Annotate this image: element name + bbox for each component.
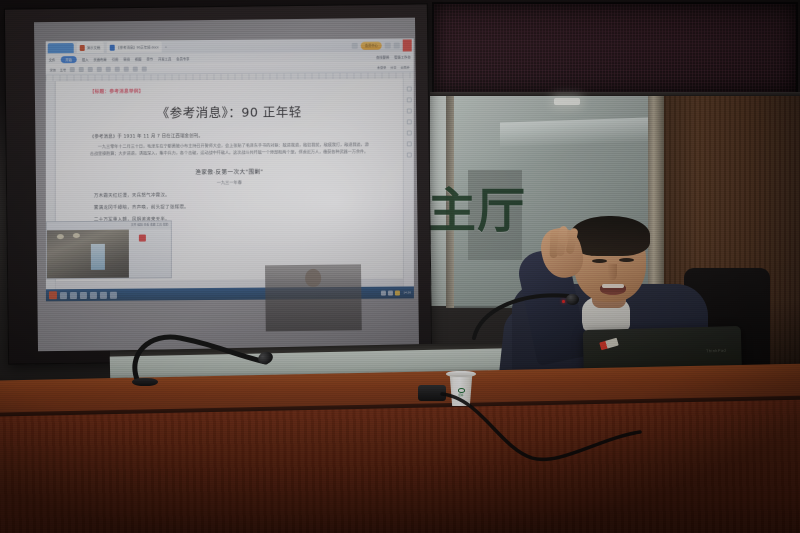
speaker-eye-left bbox=[592, 259, 607, 263]
menu-item-7[interactable]: 章节 bbox=[146, 56, 153, 61]
find-replace-button[interactable]: 查找替换 bbox=[376, 54, 389, 59]
ceiling-light bbox=[554, 98, 580, 105]
system-tray bbox=[381, 290, 400, 295]
poem-line-2: 雾满龙冈千嶂暗，齐声唤，前头捉了张辉瓒。 bbox=[90, 203, 369, 211]
doc-icon bbox=[109, 44, 114, 50]
wps-tab-ppt[interactable]: 演示文稿 bbox=[77, 42, 104, 53]
projection-screen-frame: 演示文稿 【参考消息】90正年轻.docx + 会员中心 bbox=[4, 3, 432, 364]
wps-icon[interactable] bbox=[80, 291, 87, 298]
numbered-list-icon[interactable] bbox=[124, 66, 129, 71]
align-icon[interactable] bbox=[106, 66, 111, 71]
crop-icon[interactable] bbox=[406, 119, 411, 124]
podium-microphone-base bbox=[132, 378, 158, 386]
clock-icon[interactable] bbox=[406, 141, 411, 146]
paper-cup-rim bbox=[446, 371, 476, 377]
photo-lamp-1 bbox=[57, 234, 64, 239]
italic-icon[interactable] bbox=[79, 66, 84, 71]
close-button[interactable] bbox=[403, 39, 412, 51]
folder-icon[interactable] bbox=[70, 292, 77, 299]
speaker-microphone-head bbox=[566, 294, 579, 305]
shapes-icon[interactable] bbox=[406, 108, 411, 113]
underline-icon[interactable] bbox=[88, 66, 93, 71]
menu-item-8[interactable]: 开发工具 bbox=[158, 56, 171, 61]
speaker-microphone-stem bbox=[470, 280, 580, 340]
tabbar-spacer bbox=[170, 45, 349, 46]
desk-cable bbox=[440, 388, 680, 478]
star-icon[interactable] bbox=[406, 86, 411, 91]
menu-item-5[interactable]: 审阅 bbox=[123, 56, 130, 61]
menubar-spacer bbox=[194, 57, 371, 58]
photo-lamp-2 bbox=[73, 233, 80, 238]
menu-item-2[interactable]: 插入 bbox=[82, 56, 89, 61]
wps-tab-ppt-label: 演示文稿 bbox=[87, 45, 101, 50]
font-name-select[interactable]: 宋体 bbox=[50, 67, 56, 72]
browser-icon[interactable] bbox=[60, 292, 67, 299]
menu-item-3[interactable]: 页面布局 bbox=[94, 56, 107, 61]
speaker-nose bbox=[608, 264, 617, 280]
volume-icon[interactable] bbox=[388, 290, 393, 295]
background-window-photo bbox=[47, 230, 129, 280]
taskbar-clock[interactable]: 14:26 bbox=[403, 290, 411, 294]
menu-item-9[interactable]: 会员专享 bbox=[176, 56, 189, 61]
window-controls: 会员中心 bbox=[352, 39, 414, 51]
lecture-hall-photo: 主厅 演示文稿 【参考消息】90正年轻.docx + bbox=[0, 0, 800, 533]
speaker-eye-right bbox=[619, 258, 634, 262]
start-button[interactable] bbox=[49, 291, 57, 299]
menu-item-active[interactable]: 开始 bbox=[60, 56, 77, 63]
menu-item-0[interactable]: 文件 bbox=[49, 57, 56, 62]
account-button[interactable]: 会员中心 bbox=[361, 41, 382, 49]
projection-screen-surface: 演示文稿 【参考消息】90正年轻.docx + 会员中心 bbox=[34, 18, 419, 352]
photo-screen bbox=[91, 244, 105, 270]
warning-icon[interactable] bbox=[395, 290, 400, 295]
menu-item-4[interactable]: 引用 bbox=[112, 56, 119, 61]
chart-icon[interactable] bbox=[406, 130, 411, 135]
wps-tab-doc-label: 【参考消息】90正年轻.docx bbox=[116, 44, 158, 49]
chat-icon[interactable] bbox=[110, 291, 117, 298]
ppt-icon bbox=[80, 44, 85, 50]
screen-person-head-shadow bbox=[305, 269, 321, 287]
mail-icon[interactable] bbox=[100, 291, 107, 298]
speaker-teeth bbox=[602, 284, 624, 288]
note-icon[interactable] bbox=[406, 152, 411, 157]
minimize-button[interactable] bbox=[385, 42, 391, 48]
bullet-list-icon[interactable] bbox=[115, 66, 120, 71]
microphone-led-icon bbox=[562, 300, 565, 303]
document-title: 《参考消息》：90 正年轻 bbox=[90, 101, 369, 122]
pen-icon[interactable] bbox=[406, 97, 411, 102]
bold-icon[interactable] bbox=[70, 67, 75, 72]
poem-title: 渔家傲·反第一次大"围剿" bbox=[90, 167, 369, 177]
document-body: 一九三零年十二月三十日，毛泽东在宁都黄陂小布主持召开誓师大会，会上张贴了毛泽东手… bbox=[90, 142, 369, 157]
media-icon[interactable] bbox=[90, 291, 97, 298]
layout-icon[interactable] bbox=[352, 42, 358, 48]
toolbar-spacer bbox=[151, 67, 373, 69]
network-icon[interactable] bbox=[381, 290, 386, 295]
maximize-button[interactable] bbox=[394, 42, 400, 48]
font-size-select[interactable]: 五号 bbox=[60, 67, 66, 72]
document-tagline: 【标题：参考消息举例】 bbox=[90, 87, 369, 95]
cloud-sync-button[interactable]: 云同步 bbox=[400, 64, 409, 69]
smart-workbench-button[interactable]: 智能工作台 bbox=[394, 54, 410, 59]
wps-tab-doc[interactable]: 【参考消息】90正年轻.docx bbox=[106, 41, 161, 52]
share-button[interactable]: 分享 bbox=[390, 64, 396, 69]
background-window-toolbar bbox=[129, 229, 171, 277]
menu-item-6[interactable]: 视图 bbox=[135, 56, 142, 61]
podium-front bbox=[0, 399, 800, 533]
laptop-brand-label: ThinkPad bbox=[706, 348, 726, 354]
poem-line-1: 万木霜天红烂漫，天兵怒气冲霄汉。 bbox=[90, 191, 369, 199]
background-window-toolbar-text: 文件 编辑 查看 收藏 工具 帮助 bbox=[131, 222, 168, 226]
document-sidebar bbox=[403, 78, 414, 298]
login-status[interactable]: 未登录 bbox=[377, 64, 386, 69]
wps-home-tab[interactable] bbox=[48, 43, 74, 53]
poem-date: 一九三一年春 bbox=[90, 179, 369, 187]
styles-icon[interactable] bbox=[142, 66, 147, 71]
line-spacing-icon[interactable] bbox=[133, 66, 138, 71]
font-color-icon[interactable] bbox=[97, 66, 102, 71]
background-window[interactable]: 文件 编辑 查看 收藏 工具 帮助 bbox=[46, 220, 172, 279]
document-lead: 《参考消息》于 1931 年 11 月 7 日在江西瑞金创刊。 bbox=[90, 132, 369, 140]
led-display-panel bbox=[432, 2, 798, 94]
heart-icon[interactable] bbox=[139, 235, 146, 242]
projected-desktop: 演示文稿 【参考消息】90正年轻.docx + 会员中心 bbox=[46, 38, 414, 301]
new-tab-button[interactable]: + bbox=[165, 44, 167, 49]
